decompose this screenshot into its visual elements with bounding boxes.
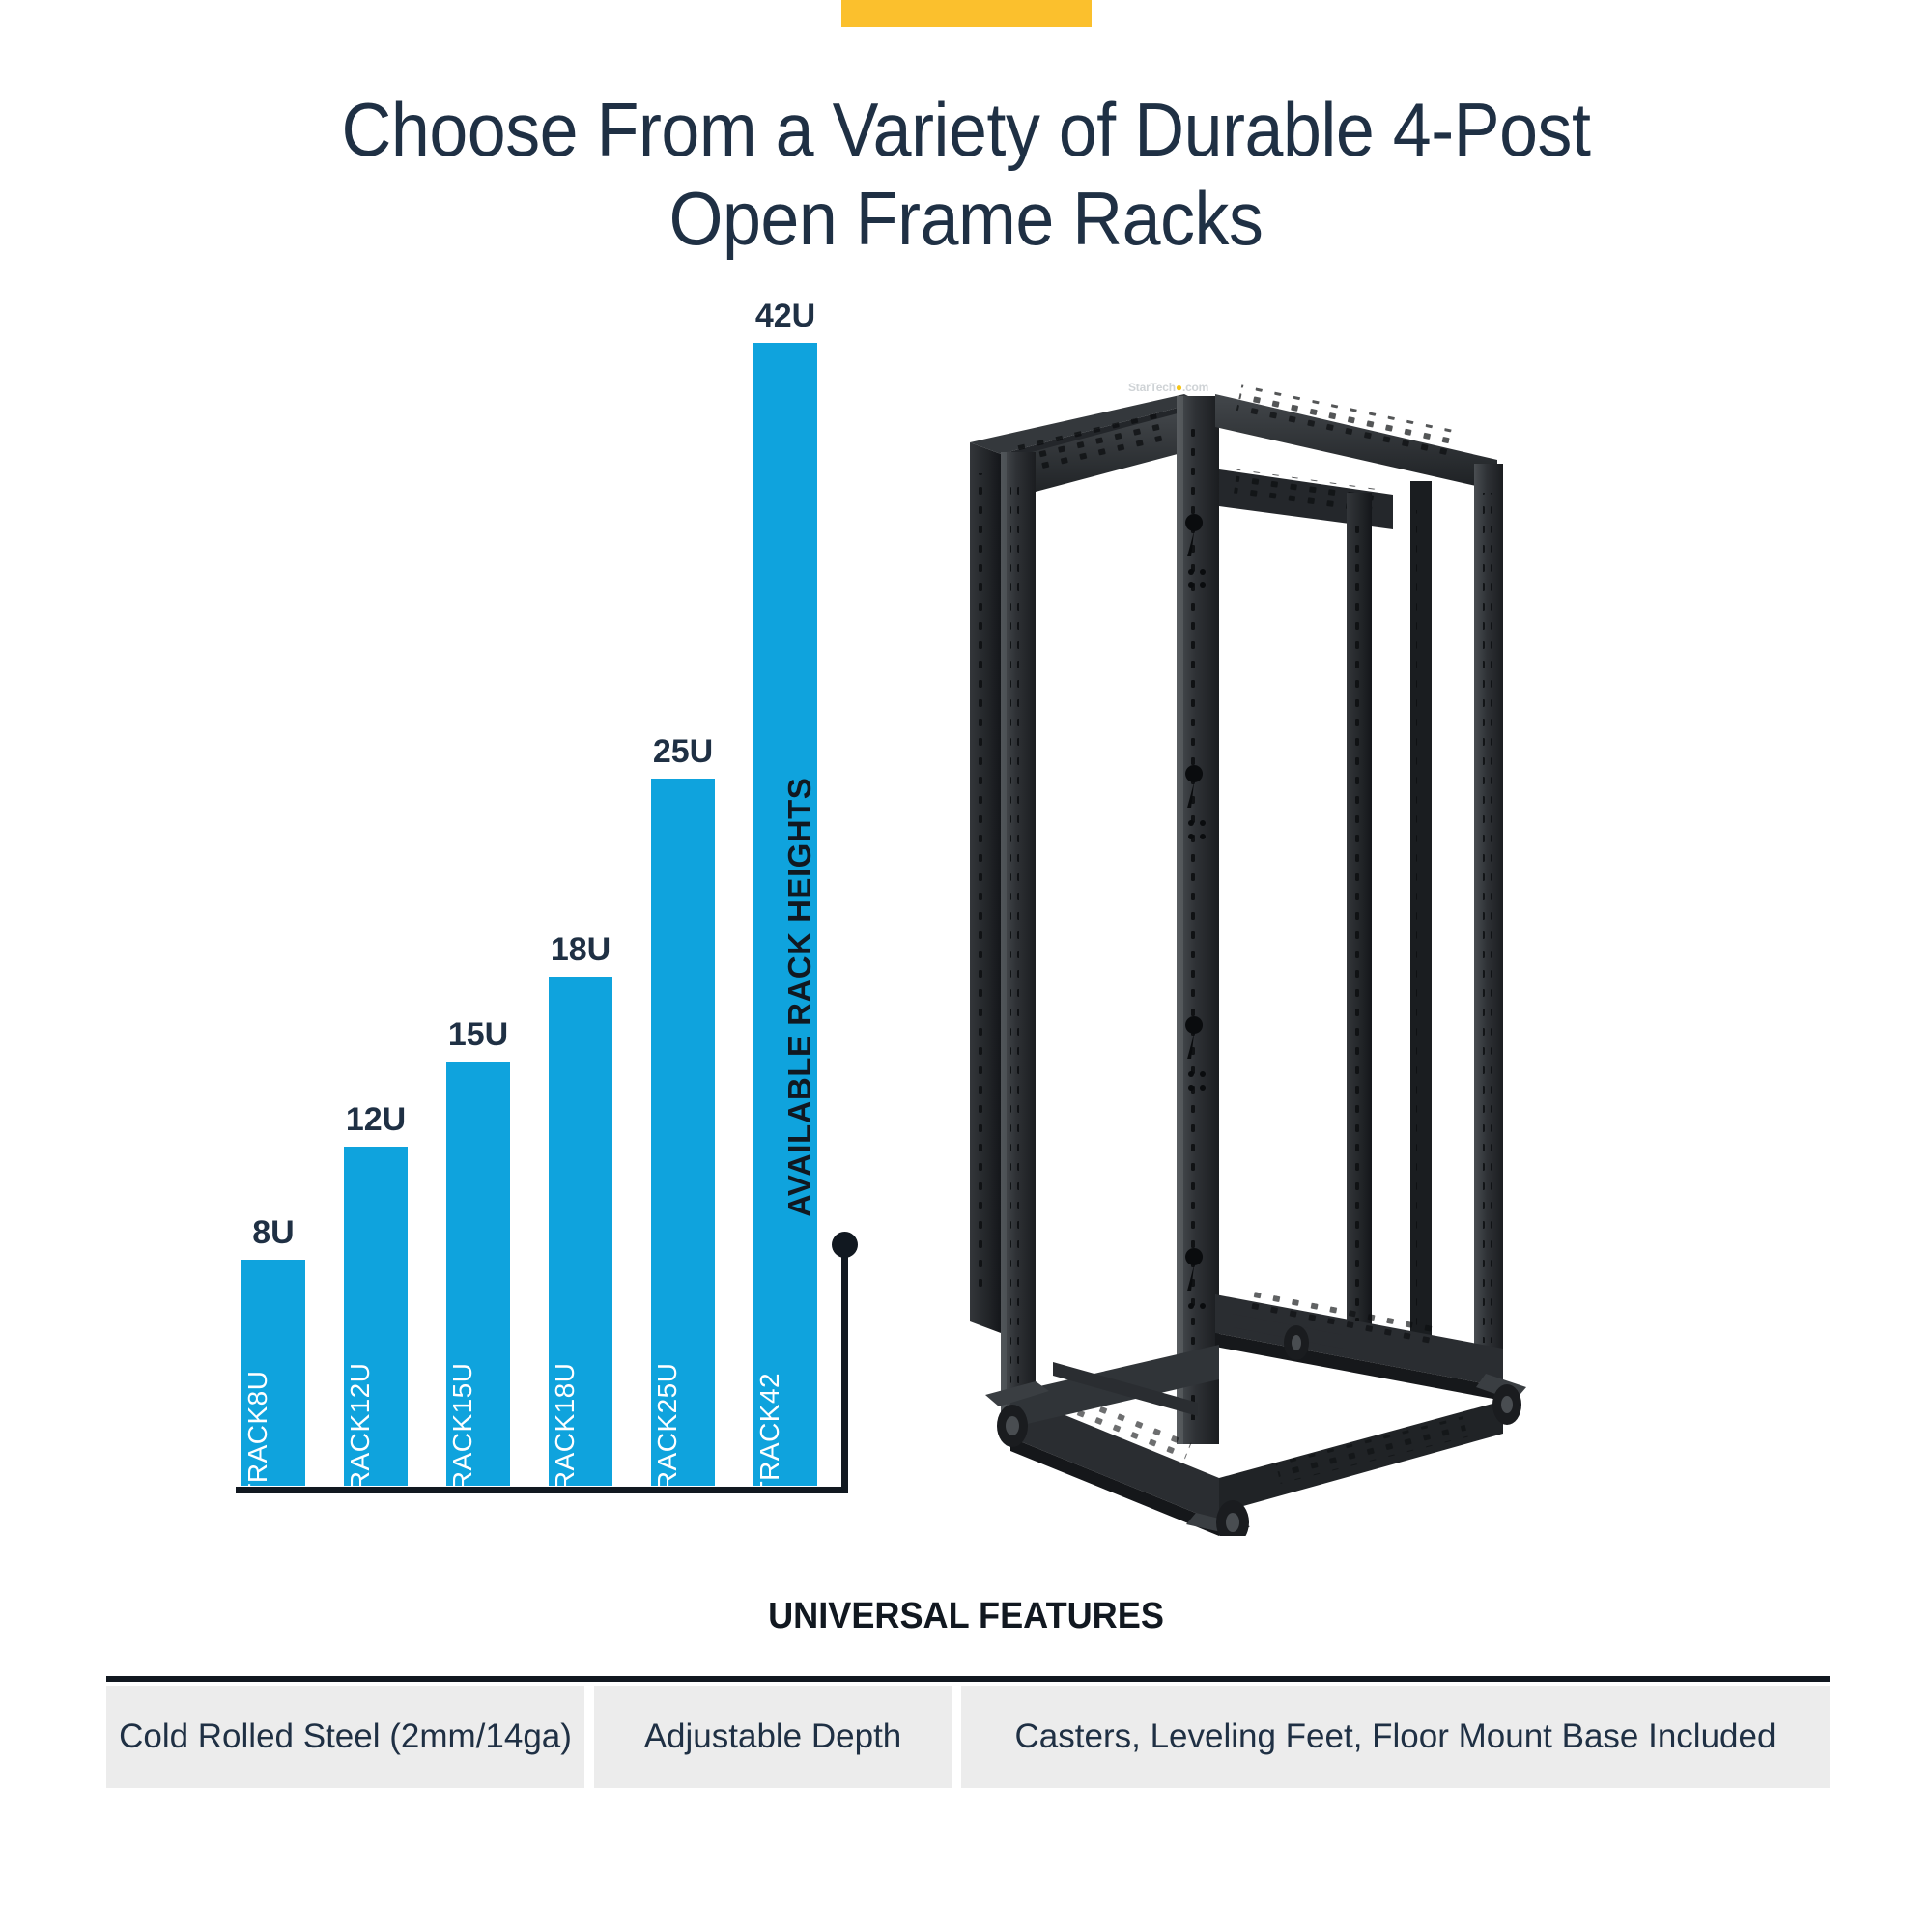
brand-suffix: .com [1182, 381, 1208, 394]
rack-illustration [956, 367, 1536, 1536]
startech-brand-logo: StarTech●.com [1128, 381, 1208, 394]
bar-2[interactable]: 4POSTRACK15U [446, 1062, 510, 1486]
x-axis-line [236, 1487, 848, 1493]
y-axis-endpoint-dot [832, 1232, 858, 1258]
bar-4[interactable]: 4POSTRACK25U [651, 779, 715, 1486]
infographic-page: Choose From a Variety of Durable 4-Post … [0, 0, 1932, 1932]
bar-slot-3: 18U 4POSTRACK18U [529, 298, 632, 1486]
title-line-1: Choose From a Variety of Durable 4-Post [77, 85, 1855, 174]
bar-3[interactable]: 4POSTRACK18U [549, 977, 612, 1486]
bar-category-label-5: 4POSTRACK42 [754, 1373, 785, 1572]
rack-heights-bar-chart: 8U 4POSTRACK8U 12U 4POSTRACK12U 15U 4POS… [222, 290, 898, 1507]
bar-slot-1: 12U 4POSTRACK12U [325, 298, 427, 1486]
bar-slot-0: 8U 4POSTRACK8U [222, 298, 325, 1486]
bar-value-label-4: 25U [653, 733, 713, 771]
bar-category-label-3: 4POSTRACK18U [550, 1363, 581, 1582]
title-line-2: Open Frame Racks [77, 174, 1855, 263]
feature-cell-0: Cold Rolled Steel (2mm/14ga) [106, 1686, 584, 1788]
bar-value-label-3: 18U [551, 931, 611, 969]
feature-cell-2: Casters, Leveling Feet, Floor Mount Base… [961, 1686, 1830, 1788]
bar-category-label-0: 4POSTRACK8U [242, 1371, 273, 1575]
brand-name: StarTech [1128, 381, 1176, 394]
features-row: Cold Rolled Steel (2mm/14ga) Adjustable … [106, 1686, 1830, 1788]
product-photo-open-frame-rack: StarTech●.com [956, 367, 1536, 1536]
page-title: Choose From a Variety of Durable 4-Post … [0, 85, 1932, 263]
bar-value-label-0: 8U [252, 1214, 294, 1252]
top-accent-bar [841, 0, 1092, 27]
bar-category-label-2: 4POSTRACK15U [447, 1363, 478, 1582]
features-divider [106, 1676, 1830, 1682]
bar-category-label-1: 4POSTRACK12U [345, 1363, 376, 1582]
bar-slot-2: 15U 4POSTRACK15U [427, 298, 529, 1486]
bar-1[interactable]: 4POSTRACK12U [344, 1147, 408, 1486]
universal-features-heading: UNIVERSAL FEATURES [48, 1596, 1884, 1637]
y-axis-line [841, 1244, 848, 1493]
bar-value-label-5: 42U [755, 298, 815, 335]
chart-bars: 8U 4POSTRACK8U 12U 4POSTRACK12U 15U 4POS… [222, 298, 840, 1486]
y-axis-title: AVAILABLE RACK HEIGHTS [781, 778, 818, 1217]
feature-cell-1: Adjustable Depth [594, 1686, 952, 1788]
bar-value-label-1: 12U [346, 1101, 406, 1139]
bar-value-label-2: 15U [448, 1016, 508, 1054]
bar-category-label-4: 4POSTRACK25U [652, 1363, 683, 1582]
bar-0[interactable]: 4POSTRACK8U [241, 1260, 305, 1486]
bar-slot-4: 25U 4POSTRACK25U [632, 298, 734, 1486]
